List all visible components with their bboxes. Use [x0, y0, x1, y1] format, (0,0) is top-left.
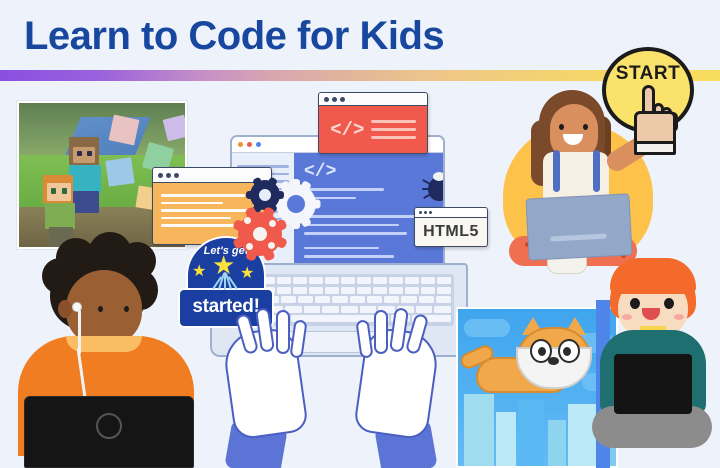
window-dot-icon: [324, 97, 329, 102]
window-dot-icon: [158, 173, 163, 178]
gear-light: [276, 184, 316, 224]
minecraft-block: [109, 115, 140, 146]
cat-pupil: [563, 347, 571, 356]
window-dot-icon: [247, 142, 252, 147]
eye: [630, 298, 640, 309]
star-icon: ★: [192, 264, 206, 280]
window-dot-icon: [238, 142, 243, 147]
minecraft-steve-eye2: [87, 151, 92, 156]
blush: [674, 314, 684, 320]
finger: [355, 319, 373, 358]
building: [518, 400, 544, 466]
cloud: [464, 319, 510, 337]
code-brackets-icon: </>: [330, 119, 364, 141]
html5-label: HTML5: [415, 218, 487, 246]
eye: [98, 306, 103, 312]
window-dot-icon: [256, 142, 261, 147]
html5-window-titlebar: [415, 208, 487, 218]
star-icon: ★: [240, 266, 254, 282]
bug-icon: [422, 169, 445, 203]
minecraft-block: [163, 115, 187, 142]
minecraft-alex-eye2: [62, 188, 67, 194]
minecraft-steve-body: [69, 165, 101, 193]
minecraft-block: [105, 157, 134, 186]
window-dot-icon: [174, 173, 179, 178]
finger: [276, 310, 290, 354]
cat-pupil: [538, 347, 546, 356]
red-code-window[interactable]: </>: [318, 92, 428, 154]
code-brackets-icon: </>: [304, 162, 336, 182]
minecraft-steve-eye: [77, 151, 82, 156]
window-dot-icon: [166, 173, 171, 178]
window-dot-icon: [419, 211, 422, 214]
minecraft-alex-eye: [51, 188, 56, 194]
gear-dark: [250, 180, 280, 210]
red-haired-boy: [592, 258, 712, 468]
strap: [553, 150, 560, 192]
eye: [559, 124, 564, 130]
black-laptop[interactable]: [24, 396, 194, 468]
window-dot-icon: [424, 211, 427, 214]
building: [496, 412, 516, 466]
hair-fringe: [610, 258, 696, 294]
blush: [622, 314, 632, 320]
ear: [58, 300, 72, 318]
pointing-hand-icon: [630, 85, 680, 157]
minecraft-alex-body: [45, 203, 75, 229]
typing-hands: [200, 286, 470, 468]
eye: [124, 306, 129, 312]
window-dot-icon: [332, 97, 337, 102]
finger: [374, 310, 388, 354]
eye: [583, 124, 588, 130]
start-button[interactable]: START: [602, 47, 694, 133]
boy-with-headphones: [0, 248, 194, 468]
grey-laptop[interactable]: [525, 193, 632, 260]
start-button-label: START: [602, 63, 694, 85]
building: [548, 420, 566, 466]
cat-nose: [548, 357, 559, 365]
html5-badge-window[interactable]: HTML5: [414, 207, 488, 247]
gear-red: [238, 212, 282, 256]
window-dot-icon: [340, 97, 345, 102]
black-laptop[interactable]: [614, 354, 692, 414]
poster-canvas: Learn to Code for Kids: [0, 0, 720, 468]
red-window-titlebar: [319, 93, 427, 106]
red-window-lines: [371, 115, 416, 144]
red-window-body: </>: [319, 106, 427, 153]
window-dot-icon: [429, 211, 432, 214]
page-title: Learn to Code for Kids: [24, 14, 444, 59]
finger: [289, 319, 307, 358]
minecraft-steve-legs: [73, 191, 99, 213]
eye: [664, 298, 674, 309]
strap: [593, 150, 600, 192]
